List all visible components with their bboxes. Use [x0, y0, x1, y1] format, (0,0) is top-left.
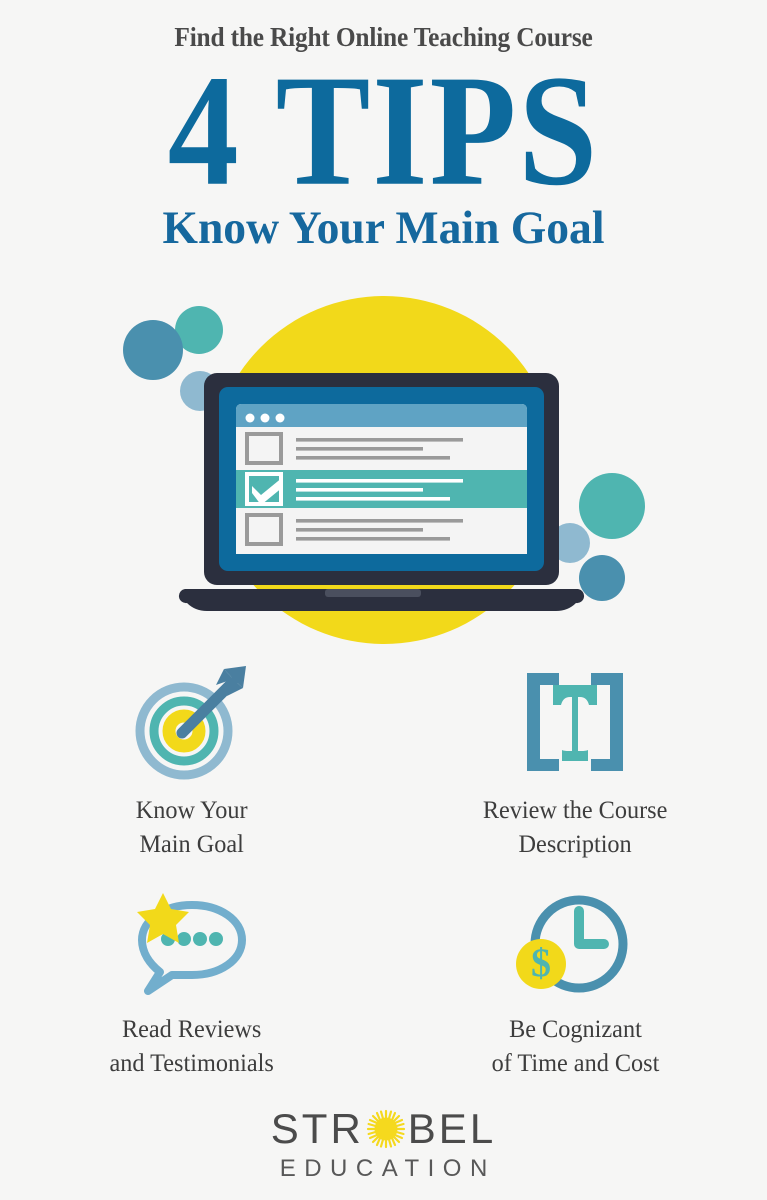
tip-label: Review the Course Description — [483, 794, 668, 861]
tips-row-2: Read Reviews and Testimonials $ Be Cogni… — [0, 889, 767, 1080]
speech-bubble-star-icon — [126, 889, 258, 1001]
bracket-t-icon — [511, 662, 639, 782]
tip-label: Be Cognizant of Time and Cost — [491, 1013, 659, 1080]
tip-label: Read Reviews and Testimonials — [110, 1013, 274, 1080]
text-line — [296, 528, 423, 532]
svg-text:$: $ — [531, 940, 551, 985]
circle-steel-large-left — [123, 320, 183, 380]
header: Find the Right Online Teaching Course 4 … — [0, 0, 767, 252]
text-line — [296, 519, 463, 523]
tip-review-the-course-description: Review the Course Description — [384, 662, 767, 861]
text-line — [296, 488, 423, 492]
logo-tagline: EDUCATION — [0, 1157, 767, 1181]
laptop-trackpad-notch — [325, 589, 421, 597]
tip-read-reviews-and-testimonials: Read Reviews and Testimonials — [0, 889, 384, 1080]
page-subtitle: Know Your Main Goal — [12, 205, 756, 252]
circle-steel-medium-right — [579, 555, 625, 601]
text-line — [296, 479, 463, 483]
titlebar-dot — [246, 414, 255, 423]
sun-burst-icon — [365, 1108, 407, 1150]
tip-label: Know Your Main Goal — [136, 794, 248, 861]
clock-dollar-icon: $ — [509, 889, 641, 1001]
text-line — [296, 447, 423, 451]
hero-illustration — [0, 288, 767, 660]
brand-logo: STR — [0, 1108, 767, 1181]
text-line — [296, 537, 450, 541]
target-arrow-icon — [128, 662, 256, 782]
logo-word-after: BEL — [408, 1108, 496, 1150]
text-line — [296, 438, 463, 442]
titlebar-dot — [261, 414, 270, 423]
tip-know-your-main-goal: Know Your Main Goal — [0, 662, 384, 861]
circle-teal-large-right — [579, 473, 645, 539]
text-line — [296, 456, 450, 460]
tips-row-1: Know Your Main Goal Review the Course De… — [0, 662, 767, 861]
tips-grid: Know Your Main Goal Review the Course De… — [0, 662, 767, 1080]
logo-word-before: STR — [271, 1108, 364, 1150]
text-line — [296, 497, 450, 501]
titlebar-dot — [276, 414, 285, 423]
page-title: 4 TIPS — [0, 65, 767, 195]
logo-wordmark: STR — [0, 1108, 767, 1150]
tip-be-cognizant-of-time-and-cost: $ Be Cognizant of Time and Cost — [384, 889, 767, 1080]
